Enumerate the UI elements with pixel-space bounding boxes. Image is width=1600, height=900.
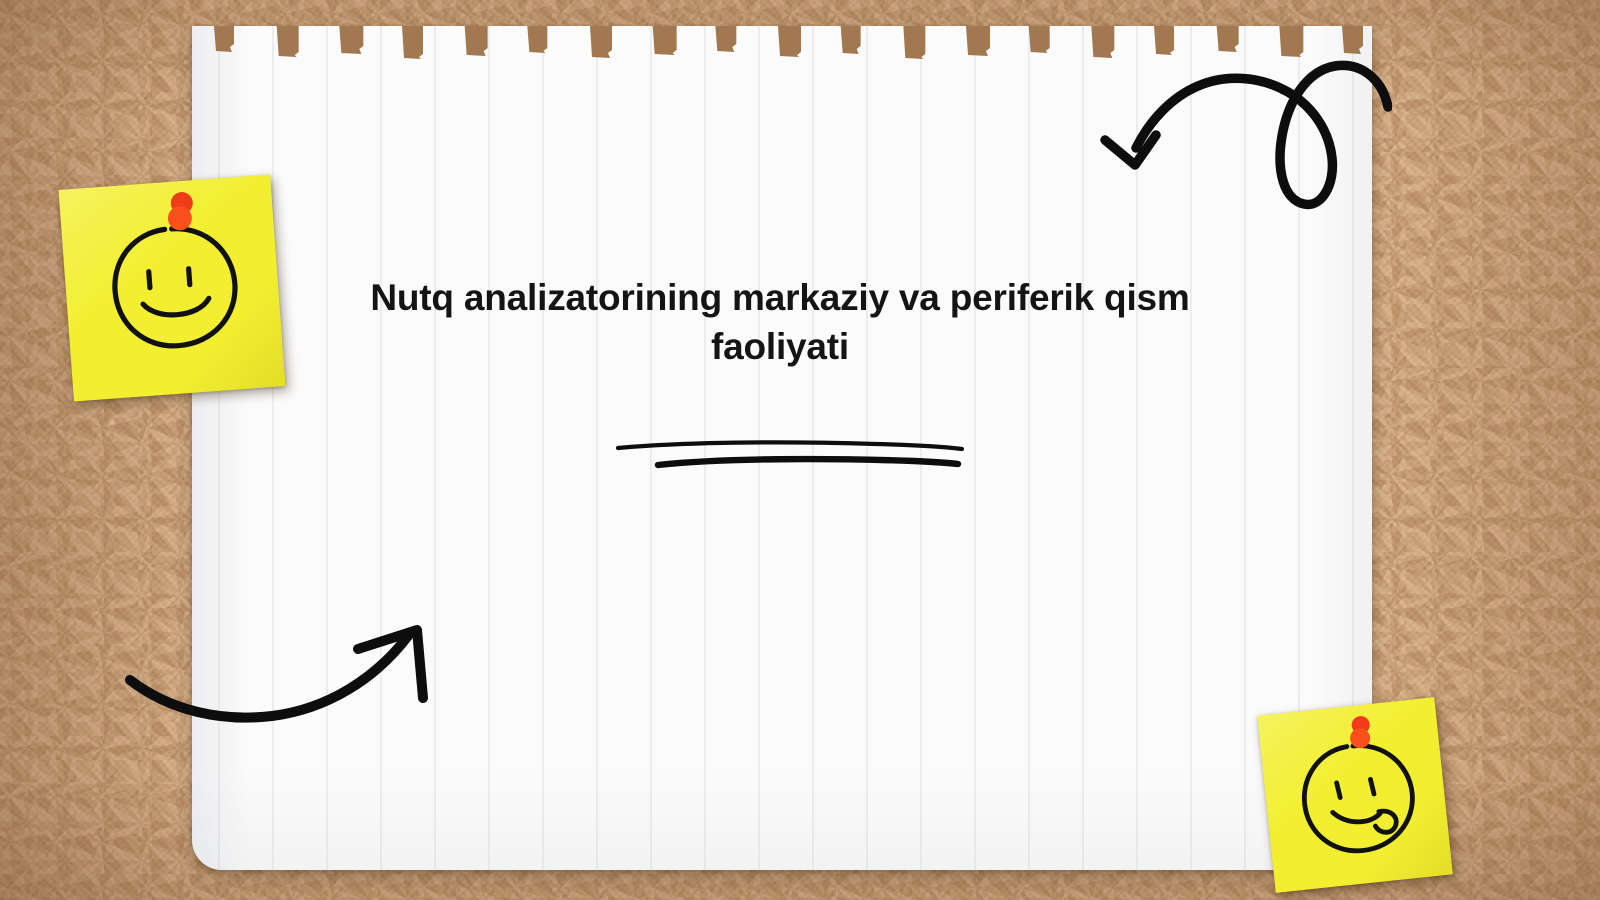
presentation-slide: Nutq analizatorining markaziy va perifer… <box>0 0 1600 900</box>
hand-drawn-divider-icon <box>614 428 966 480</box>
title-block: Nutq analizatorining markaziy va perifer… <box>300 274 1260 372</box>
sticky-note-tongue-smiley[interactable] <box>1257 697 1453 893</box>
smiley-face-icon <box>59 175 286 402</box>
curly-loop-arrow-icon <box>1092 52 1392 232</box>
curved-arrow-up-right-icon <box>118 598 468 728</box>
smiley-face-tongue-out-icon <box>1257 697 1453 893</box>
sticky-note-smiley[interactable] <box>59 175 286 402</box>
slide-title: Nutq analizatorining markaziy va perifer… <box>300 274 1260 372</box>
pushpin-icon <box>166 191 195 231</box>
